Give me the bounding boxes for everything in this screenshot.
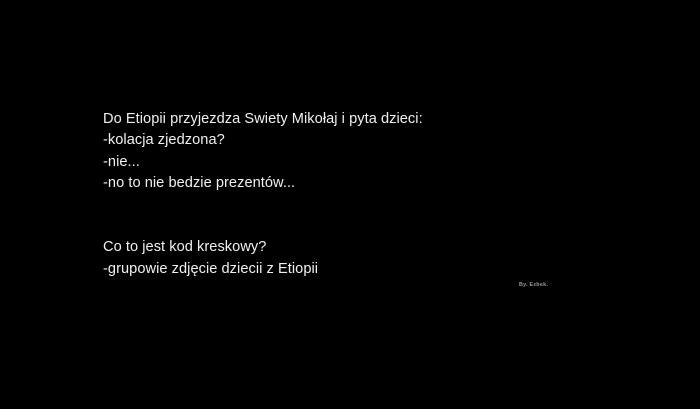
joke-line: -nie... — [103, 152, 643, 173]
block-spacer — [103, 195, 643, 238]
joke-line: Do Etiopii przyjezdza Swiety Mikołaj i p… — [103, 109, 643, 130]
slide-canvas: Do Etiopii przyjezdza Swiety Mikołaj i p… — [0, 0, 700, 409]
author-signature-watermark: By. Ezbek. — [519, 281, 548, 289]
joke-line: -grupowie zdjęcie dziecii z Etiopii — [103, 259, 643, 280]
joke-line: Co to jest kod kreskowy? — [103, 237, 643, 258]
joke-block-one: Do Etiopii przyjezdza Swiety Mikołaj i p… — [103, 109, 643, 195]
joke-line: -no to nie bedzie prezentów... — [103, 173, 643, 194]
joke-block-two: Co to jest kod kreskowy? -grupowie zdjęc… — [103, 237, 643, 280]
joke-line: -kolacja zjedzona? — [103, 130, 643, 151]
joke-text-container: Do Etiopii przyjezdza Swiety Mikołaj i p… — [103, 109, 643, 280]
